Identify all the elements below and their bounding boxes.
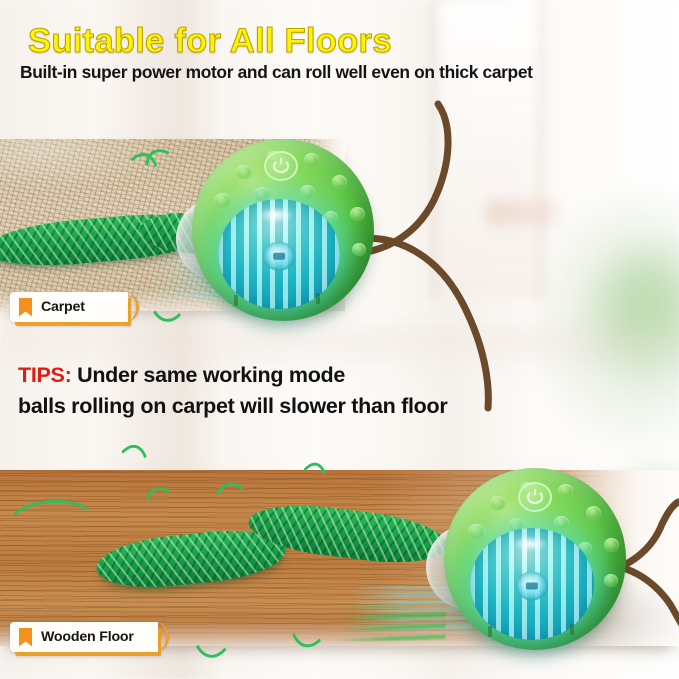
product-marketing-poster: Suitable for All Floors Built-in super p… (0, 0, 679, 679)
rolling-cat-ball-wood (444, 468, 626, 650)
bookmark-icon (19, 628, 32, 647)
ball-vent (570, 624, 574, 635)
badge-carpet[interactable]: Carpet (10, 292, 128, 322)
ball-dimple (352, 243, 366, 256)
power-icon[interactable] (264, 151, 298, 181)
ball-dimple (604, 574, 618, 587)
badge-carpet-label: Carpet (41, 299, 101, 315)
ball-vent (316, 293, 320, 304)
tips-line-2-text: balls rolling on carpet will slower than… (18, 391, 658, 422)
ball-hub (263, 242, 295, 271)
ball-dimple (236, 165, 252, 179)
ball-dimple (558, 484, 573, 497)
subheadline: Built-in super power motor and can roll … (20, 62, 533, 83)
ball-vent (234, 295, 238, 306)
badge-wooden-floor-label: Wooden Floor (41, 629, 150, 645)
rolling-cat-ball-carpet (192, 139, 374, 321)
ball-dimple (468, 524, 485, 539)
power-icon[interactable] (518, 482, 552, 512)
background-shelf (487, 200, 559, 226)
ball-dimple (490, 496, 506, 510)
headline: Suitable for All Floors (28, 22, 392, 61)
ball-dimple (300, 185, 315, 198)
tips-keyword: TIPS: (18, 363, 71, 387)
ball-vent (488, 626, 492, 637)
power-glyph (527, 490, 544, 505)
badge-wooden-floor[interactable]: Wooden Floor (10, 622, 158, 652)
ball-dimple (332, 175, 347, 189)
tips-block: TIPS: Under same working mode balls roll… (18, 360, 658, 421)
ball-dimple (604, 538, 619, 552)
power-glyph (273, 159, 290, 174)
ball-dimple (586, 506, 601, 520)
ball-specular-highlight (258, 207, 294, 223)
wood-green-motion-streaks (336, 606, 446, 642)
tips-line-1-text: Under same working mode (71, 363, 345, 387)
bookmark-icon (19, 298, 32, 317)
tips-line-1: TIPS: Under same working mode (18, 360, 658, 391)
ball-glow-window (470, 528, 594, 640)
background-window (432, 0, 544, 300)
ball-dimple (304, 153, 319, 166)
ball-dimple (214, 193, 231, 208)
ball-specular-highlight (512, 536, 548, 552)
ball-dimple (554, 516, 569, 529)
ball-glow-window (218, 199, 340, 309)
ball-dimple (350, 207, 365, 221)
